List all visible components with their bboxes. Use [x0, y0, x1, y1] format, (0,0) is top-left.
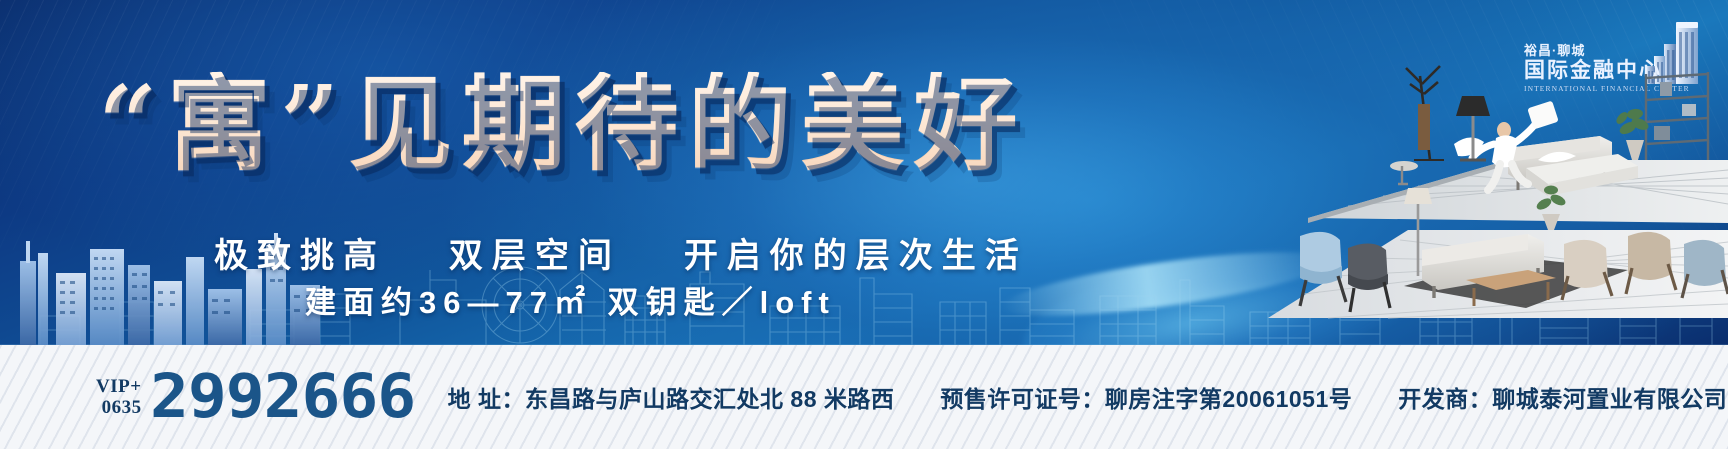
- subtitle-line-2: 建面约36—77㎡ 双钥匙／loft: [305, 277, 836, 322]
- subtitle-line-1: 极致挑高 双层空间 开启你的层次生活: [214, 228, 1028, 277]
- contact-info-bar: VIP+ 0635 2992666 地 址：东昌路与庐山路交汇处北 88 米路西…: [0, 345, 1728, 449]
- phone-block[interactable]: VIP+ 0635 2992666: [96, 369, 400, 425]
- vip-label: VIP+: [96, 376, 142, 397]
- loft-furniture-scene: [1208, 18, 1728, 338]
- coat-rack: [1406, 66, 1444, 160]
- hero-background: “寓”见期待的美好 极致挑高 双层空间 开启你的层次生活 建面约36—77㎡ 双…: [0, 0, 1728, 345]
- area-code: 0635: [96, 397, 142, 418]
- info-items: 地 址：东昌路与庐山路交汇处北 88 米路西 预售许可证号：聊房注字第20061…: [448, 380, 1728, 414]
- phone-number[interactable]: 2992666: [150, 369, 415, 425]
- shelf-unit: [1646, 72, 1708, 160]
- headline: “寓”见期待的美好: [98, 72, 1027, 176]
- side-table-upper: [1390, 161, 1418, 184]
- vip-label-block: VIP+ 0635: [96, 376, 142, 419]
- property-ad-banner: “寓”见期待的美好 极致挑高 双层空间 开启你的层次生活 建面约36—77㎡ 双…: [0, 0, 1728, 449]
- info-item-developer: 开发商：聊城泰河置业有限公司: [1398, 380, 1727, 414]
- subtitle-part-c: 开启你的层次生活: [684, 237, 1028, 275]
- subtitle-part-b: 双层空间: [449, 237, 621, 275]
- info-item-address: 地 址：东昌路与庐山路交汇处北 88 米路西: [448, 380, 895, 414]
- info-item-permit: 预售许可证号：聊房注字第20061051号: [940, 380, 1352, 414]
- subtitle-part-a: 极致挑高: [214, 237, 386, 275]
